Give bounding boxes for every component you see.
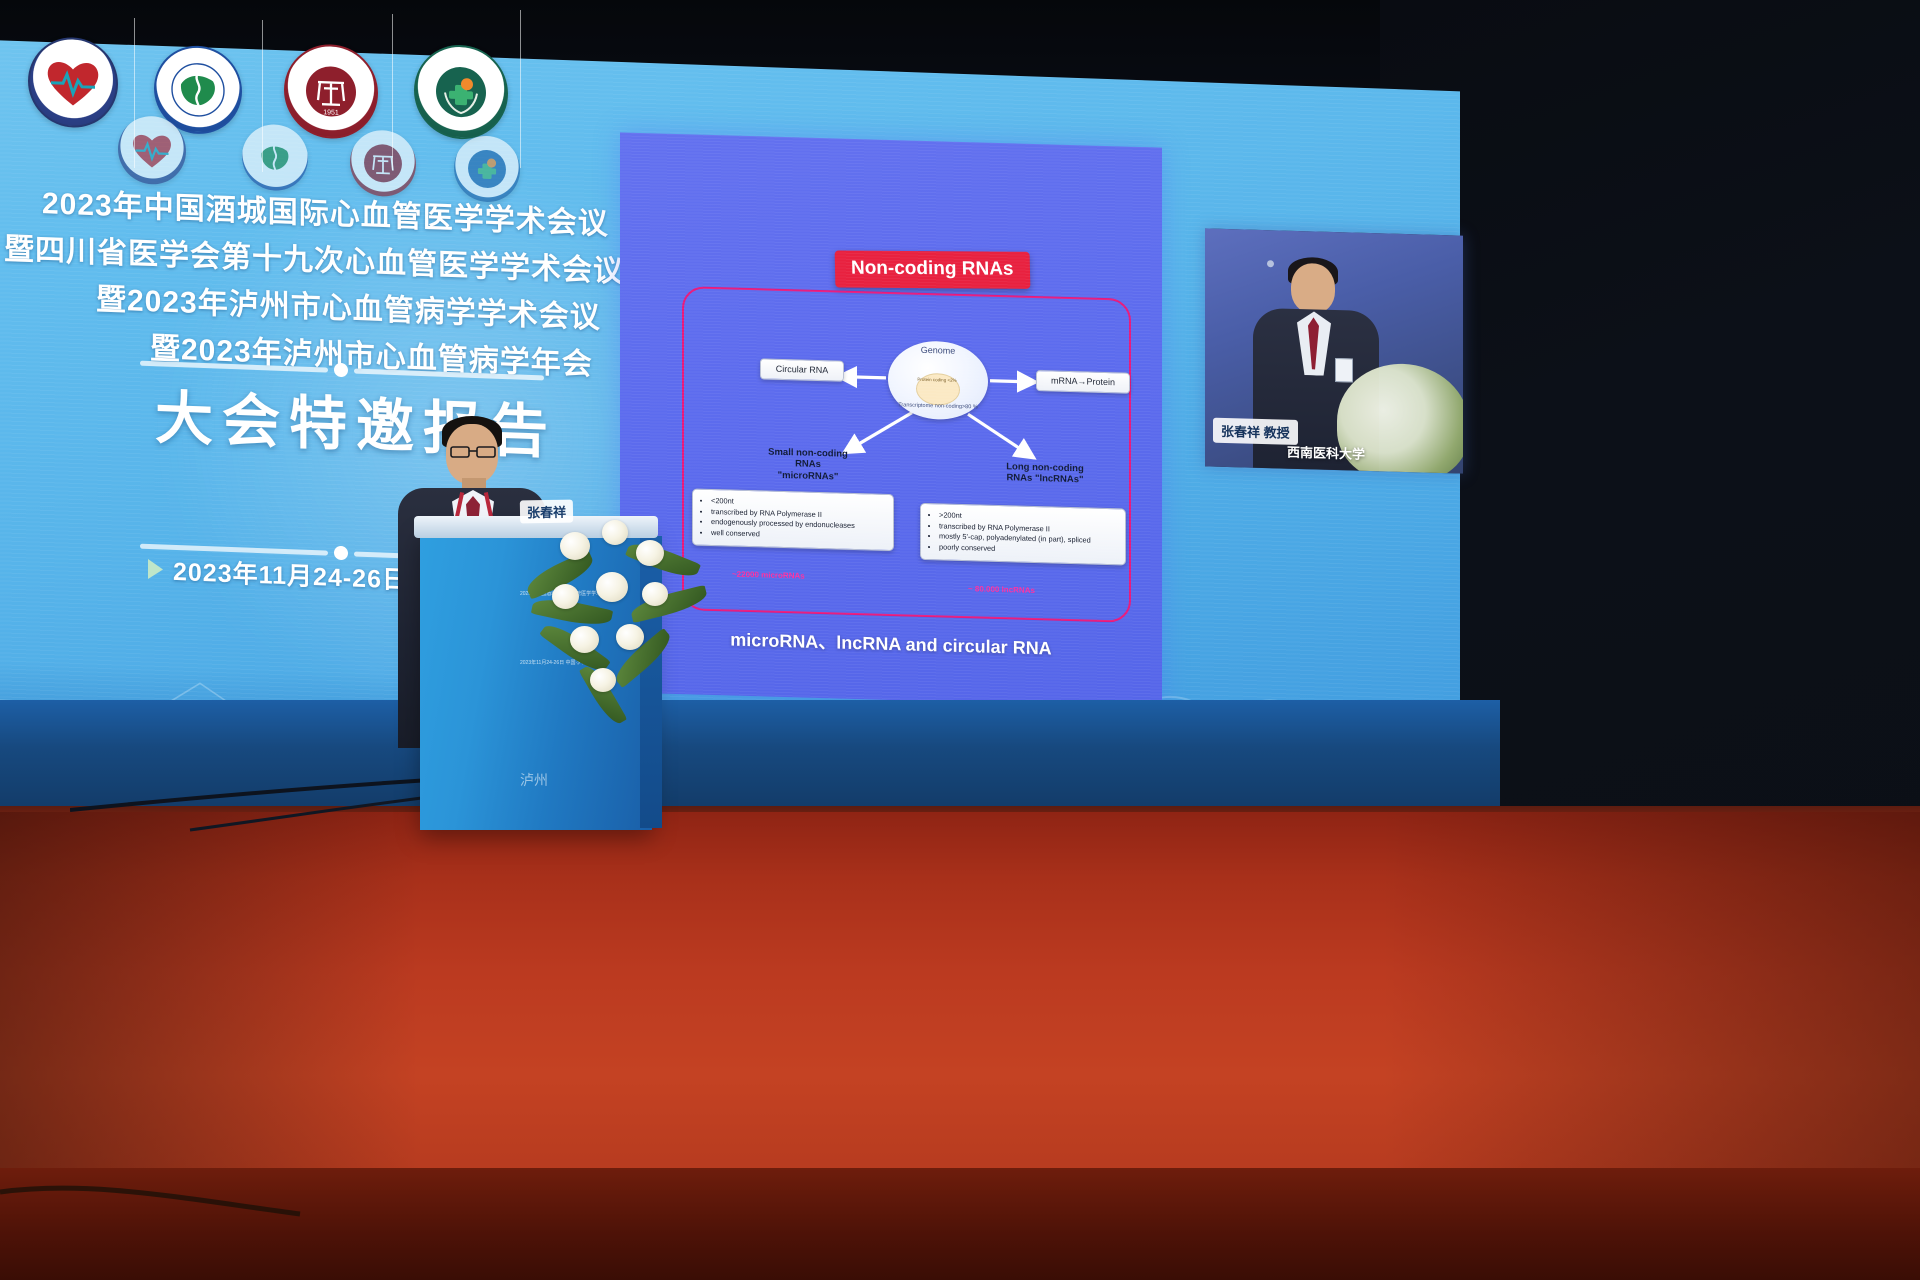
long-noncoding-rna-line2: RNAs "lncRNAs" (970, 472, 1120, 488)
presentation-slide: Non-coding RNAs Genome Protein coding <2… (620, 132, 1162, 707)
protein-coding-label: Protein coding <2% (916, 377, 958, 383)
small-noncoding-rna-line1: Small non-coding (740, 446, 876, 461)
long-noncoding-rna-bullets: >200nt transcribed by RNA Polymerase II … (920, 503, 1126, 566)
logo-separator-3 (392, 14, 393, 170)
swmu-seal-icon: 1951 (302, 62, 360, 122)
slide-banner-title: Non-coding RNAs (835, 250, 1030, 288)
small-noncoding-rna-line2: RNAs (740, 457, 876, 472)
video-feed-light-dot (1267, 260, 1274, 267)
mrna-protein-label: mRNA→Protein (1051, 375, 1115, 387)
hospital-cross-wreath-icon (432, 62, 490, 122)
flower-bloom (570, 626, 599, 653)
circular-rna-node: Circular RNA (760, 358, 844, 382)
speaker-video-feed: 张春祥 教授 西南医科大学 (1205, 228, 1463, 473)
flower-bloom (596, 572, 628, 602)
flower-bloom (642, 582, 668, 606)
flower-bloom (636, 540, 664, 566)
podium-flower-arrangement (530, 498, 700, 758)
logo-separator-2 (262, 20, 263, 172)
conference-photo-scene: 1951 (0, 0, 1920, 1280)
swmu-seal-icon-reflection (361, 141, 405, 187)
southwest-medical-university-logo-reflection (350, 129, 416, 197)
list-item: well conserved (711, 528, 886, 544)
china-wine-city-cardiology-logo (28, 36, 118, 129)
slide-pink-frame (682, 286, 1131, 623)
sichuan-medical-association-logo-reflection (242, 123, 308, 191)
protein-coding-core (916, 373, 960, 406)
long-noncoding-rna-bullet-list: >200nt transcribed by RNA Polymerase II … (928, 510, 1118, 558)
heart-pulse-icon (41, 52, 105, 112)
list-item: transcribed by RNA Polymerase II (939, 521, 1118, 537)
lncrna-count-note: ~ 80.000 lncRNAs (968, 584, 1035, 595)
speaker-glasses-icon (450, 446, 496, 458)
circular-rna-label: Circular RNA (776, 364, 829, 375)
flower-bloom (616, 624, 644, 650)
play-triangle-icon (148, 559, 163, 580)
southwest-medical-university-logo: 1951 (284, 43, 378, 140)
small-noncoding-rna-bullets: <200nt transcribed by RNA Polymerase II … (692, 488, 894, 551)
foreground-cable-group (0, 1140, 360, 1260)
long-noncoding-rna-title: Long non-coding RNAs "lncRNAs" (970, 460, 1120, 487)
long-noncoding-rna-line1: Long non-coding (970, 460, 1120, 476)
divider-dot (334, 363, 348, 378)
list-item: poorly conserved (939, 543, 1118, 559)
list-item: <200nt (711, 496, 886, 512)
sichuan-map-snake-icon (169, 60, 227, 120)
video-speaker-head (1291, 263, 1335, 314)
microrna-count-note: ~22000 microRNAs (732, 570, 805, 581)
flower-bloom (602, 520, 628, 545)
heart-pulse-icon-reflection (128, 127, 176, 173)
small-noncoding-rna-line3: "microRNAs" (740, 469, 876, 484)
flower-bloom (552, 584, 579, 609)
slide-arrow-layer (620, 132, 1162, 707)
projection-screen: Non-coding RNAs Genome Protein coding <2… (620, 132, 1162, 707)
flower-bloom (560, 532, 590, 560)
small-noncoding-rna-title: Small non-coding RNAs "microRNAs" (740, 446, 876, 484)
logo-separator-4 (520, 10, 521, 168)
video-speaker-affiliation: 西南医科大学 (1287, 442, 1365, 463)
mrna-protein-node: mRNA→Protein (1036, 370, 1130, 394)
logo-separator-1 (134, 18, 135, 168)
sichuan-map-snake-icon-reflection (252, 134, 298, 182)
genome-label: Genome (888, 344, 988, 357)
list-item: >200nt (939, 510, 1118, 526)
flower-leaf (625, 537, 701, 583)
genome-node (888, 340, 988, 421)
flower-bloom (590, 668, 616, 692)
affiliated-hospital-swmu-logo (414, 43, 508, 140)
conference-title-block: 2023年中国酒城国际心血管医学学术会议 暨四川省医学会第十九次心血管医学学术会… (0, 177, 620, 385)
hospital-cross-wreath-icon-reflection (465, 146, 509, 192)
podium-bottom-glyph: 泸州 (520, 770, 548, 790)
transcriptome-label: Transcriptome non-coding>80 % (886, 402, 990, 412)
small-noncoding-rna-bullet-list: <200nt transcribed by RNA Polymerase II … (700, 496, 886, 544)
flower-leaf (629, 585, 710, 623)
list-item: transcribed by RNA Polymerase II (711, 507, 886, 523)
list-item: endogenously processed by endonucleases (711, 517, 886, 533)
svg-text:1951: 1951 (323, 109, 339, 117)
video-speaker-badge (1335, 358, 1353, 383)
video-speaker-name-tag: 张春祥 教授 (1213, 418, 1298, 445)
slide-caption: microRNA、lncRNA and circular RNA (620, 622, 1162, 663)
list-item: mostly 5'-cap, polyadenylated (in part),… (939, 532, 1118, 548)
